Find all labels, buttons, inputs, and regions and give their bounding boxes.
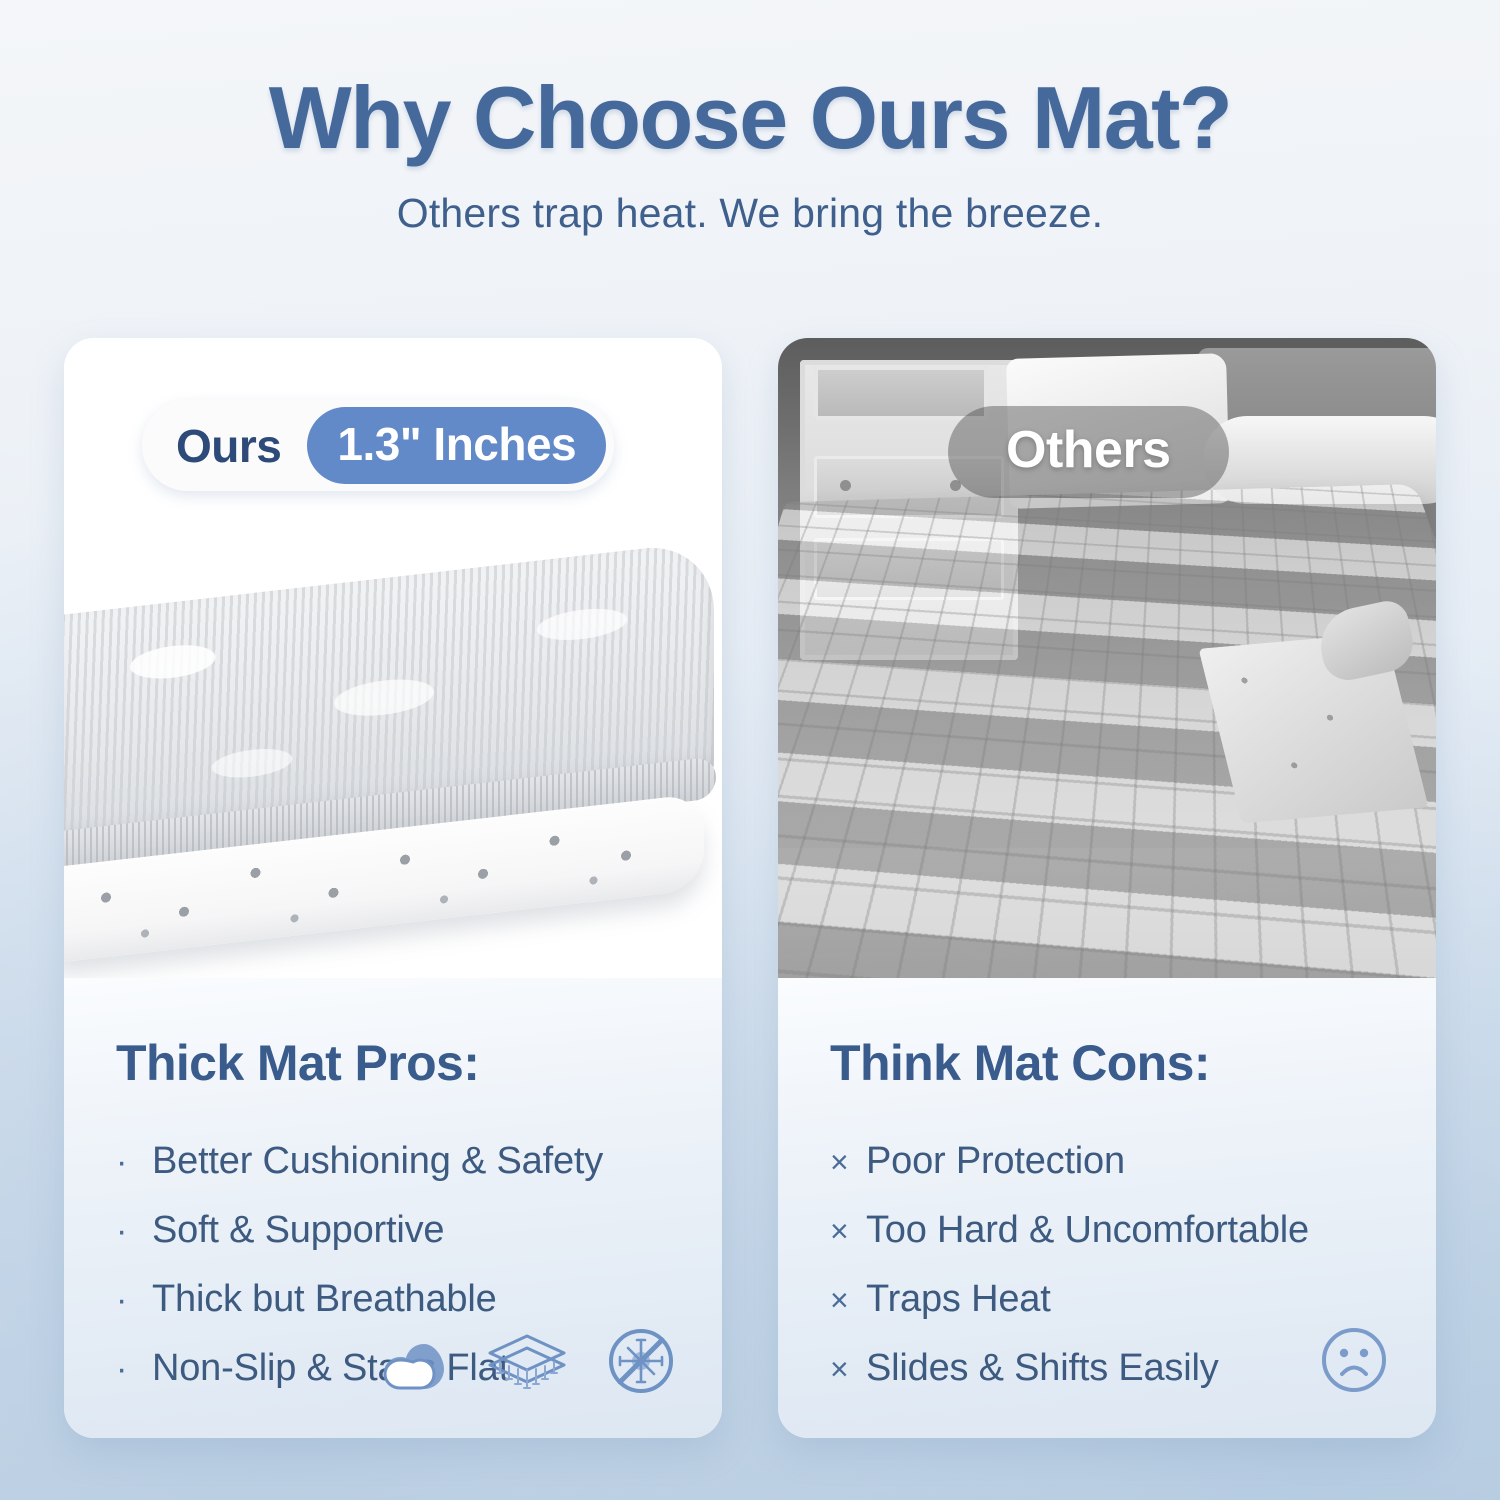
cross-icon: × [830, 1144, 866, 1181]
page-title: Why Choose Ours Mat? [0, 72, 1500, 164]
sad-face-icon [1318, 1324, 1390, 1396]
ours-feature-icons [374, 1326, 676, 1396]
cons-list: × Poor Protection × Too Hard & Uncomfort… [830, 1140, 1384, 1390]
ours-thickness-label: 1.3" Inches [307, 407, 606, 484]
cross-icon: × [830, 1213, 866, 1250]
list-item-label: Traps Heat [866, 1278, 1051, 1321]
list-item-label: Soft & Supportive [152, 1209, 444, 1252]
ours-brand-label: Ours [176, 419, 307, 473]
breathable-layers-icon [484, 1332, 570, 1396]
list-item: × Poor Protection [830, 1140, 1384, 1183]
bullet-icon: · [116, 1350, 152, 1389]
list-item-label: Thick but Breathable [152, 1278, 497, 1321]
list-item-label: Too Hard & Uncomfortable [866, 1209, 1309, 1252]
list-item-label: Poor Protection [866, 1140, 1125, 1183]
anti-bacterial-icon [606, 1326, 676, 1396]
bullet-icon: · [116, 1212, 152, 1251]
others-panel: Think Mat Cons: × Poor Protection × Too … [778, 978, 1436, 1438]
cloud-soft-icon [374, 1338, 448, 1396]
bullet-icon: · [116, 1143, 152, 1182]
cross-icon: × [830, 1351, 866, 1388]
list-item: · Thick but Breathable [116, 1278, 670, 1321]
others-panel-title: Think Mat Cons: [830, 1034, 1384, 1092]
ours-card: Ours 1.3" Inches Thick Mat Pros: · Bette… [64, 338, 722, 1438]
bullet-icon: · [116, 1281, 152, 1320]
list-item: × Slides & Shifts Easily [830, 1347, 1384, 1390]
list-item: · Better Cushioning & Safety [116, 1140, 670, 1183]
list-item: × Too Hard & Uncomfortable [830, 1209, 1384, 1252]
others-product-photo: Others [778, 338, 1436, 978]
list-item: · Soft & Supportive [116, 1209, 670, 1252]
others-label: Others [1006, 420, 1171, 480]
ours-thickness-badge: Ours 1.3" Inches [142, 400, 614, 491]
page-subtitle: Others trap heat. We bring the breeze. [0, 190, 1500, 237]
cross-icon: × [830, 1282, 866, 1319]
list-item-label: Better Cushioning & Safety [152, 1140, 603, 1183]
drawer-knob [840, 480, 851, 491]
dresser-top-drawer [814, 366, 988, 420]
others-feature-icons [1318, 1324, 1390, 1396]
others-card: Others Think Mat Cons: × Poor Protection… [778, 338, 1436, 1438]
ours-product-photo: Ours 1.3" Inches [64, 338, 722, 978]
comparison-cards: Ours 1.3" Inches Thick Mat Pros: · Bette… [64, 338, 1436, 1438]
others-badge: Others [948, 406, 1229, 498]
list-item: × Traps Heat [830, 1278, 1384, 1321]
ours-panel-title: Thick Mat Pros: [116, 1034, 670, 1092]
list-item-label: Slides & Shifts Easily [866, 1347, 1219, 1390]
mat-illustration [64, 578, 722, 938]
page-header: Why Choose Ours Mat? Others trap heat. W… [0, 0, 1500, 237]
ours-panel: Thick Mat Pros: · Better Cushioning & Sa… [64, 978, 722, 1438]
